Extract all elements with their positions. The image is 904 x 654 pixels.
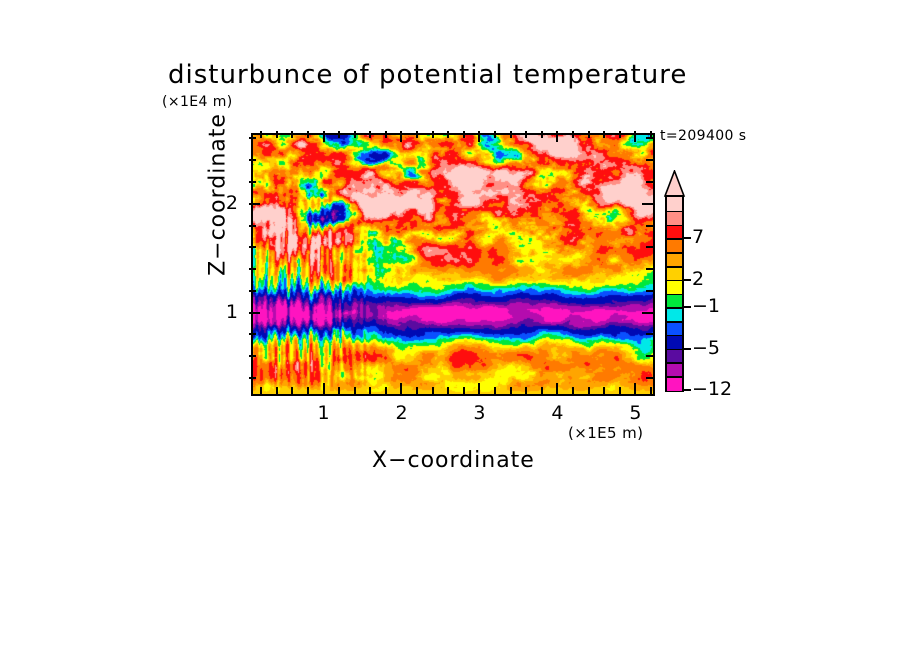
colorbar-band: [667, 238, 682, 252]
x-axis-tick-top: [400, 131, 402, 142]
x-axis-tick-bottom: [354, 387, 356, 394]
x-axis-tick-bottom: [416, 387, 418, 394]
x-axis-tick-bottom: [447, 387, 449, 394]
y-axis-tick-right: [646, 333, 653, 335]
x-axis-tick-bottom: [478, 383, 480, 394]
page-title: disturbunce of potential temperature: [168, 60, 687, 90]
x-axis-tick-top: [432, 131, 434, 138]
x-axis-tick-top: [619, 131, 621, 138]
y-axis-tick-right: [646, 159, 653, 161]
colorbar-band: [667, 349, 682, 363]
x-axis-tick-bottom: [432, 387, 434, 394]
y-axis-tick-left: [249, 312, 260, 314]
x-axis-tick-bottom: [650, 387, 652, 394]
x-axis-tick-bottom: [260, 387, 262, 394]
x-axis-tick-top: [572, 131, 574, 138]
x-axis-tick-top: [510, 131, 512, 138]
colorbar-band-divider: [667, 335, 682, 337]
colorbar-band-divider: [667, 349, 682, 351]
x-axis-title: X−coordinate: [372, 448, 535, 473]
colorbar-band-divider: [667, 238, 682, 240]
x-axis-tick-top: [369, 131, 371, 138]
y-axis-tick-right: [646, 268, 653, 270]
colorbar-band: [667, 362, 682, 376]
colorbar-band: [667, 376, 682, 390]
figure-root: disturbunce of potential temperature (×1…: [0, 0, 904, 654]
y-axis-tick-right: [646, 181, 653, 183]
x-axis-tick-bottom: [494, 387, 496, 394]
colorbar-band: [667, 211, 682, 225]
colorbar-band: [667, 280, 682, 294]
x-axis-tick-bottom: [510, 387, 512, 394]
y-tick-label: 1: [208, 301, 238, 323]
colorbar-band-divider: [667, 266, 682, 268]
colorbar-tick: [684, 279, 691, 281]
x-axis-tick-bottom: [541, 387, 543, 394]
y-axis-tick-right: [642, 203, 653, 205]
colorbar-band-divider: [667, 362, 682, 364]
time-annotation: t=209400 s: [660, 128, 746, 144]
x-axis-tick-bottom: [291, 387, 293, 394]
x-axis-tick-top: [276, 131, 278, 138]
x-axis-tick-bottom: [619, 387, 621, 394]
colorbar-tick: [684, 389, 691, 391]
x-axis-tick-bottom: [572, 387, 574, 394]
colorbar-tick: [684, 237, 691, 239]
x-axis-unit-label: (×1E5 m): [568, 424, 643, 442]
y-axis-tick-left: [249, 181, 256, 183]
y-axis-tick-right: [646, 355, 653, 357]
y-axis-tick-left: [249, 268, 256, 270]
x-axis-tick-bottom: [307, 387, 309, 394]
colorbar-band-divider: [667, 225, 682, 227]
x-tick-label: 5: [620, 402, 650, 424]
colorbar-label: −1: [692, 295, 720, 317]
x-axis-tick-top: [541, 131, 543, 138]
x-axis-tick-bottom: [603, 387, 605, 394]
x-axis-tick-top: [556, 131, 558, 142]
colorbar-band: [667, 335, 682, 349]
x-axis-tick-bottom: [323, 383, 325, 394]
x-axis-tick-top: [588, 131, 590, 138]
colorbar-label: 7: [692, 226, 704, 248]
y-axis-tick-right: [646, 290, 653, 292]
colorbar-band: [667, 197, 682, 211]
colorbar-band: [667, 307, 682, 321]
y-axis-tick-right: [646, 246, 653, 248]
y-axis-tick-right: [646, 137, 653, 139]
colorbar-band-divider: [667, 307, 682, 309]
y-axis-tick-left: [249, 377, 256, 379]
y-axis-tick-right: [646, 225, 653, 227]
y-axis-tick-left: [249, 203, 260, 205]
y-axis-tick-left: [249, 290, 256, 292]
colorbar-label: −12: [692, 378, 732, 400]
colorbar-band-divider: [667, 376, 682, 378]
x-axis-tick-bottom: [385, 387, 387, 394]
x-axis-tick-top: [354, 131, 356, 138]
x-axis-tick-bottom: [463, 387, 465, 394]
y-axis-tick-left: [249, 355, 256, 357]
y-axis-tick-left: [249, 159, 256, 161]
y-tick-label: 2: [208, 192, 238, 214]
colorbar-band: [667, 266, 682, 280]
x-axis-tick-top: [307, 131, 309, 138]
colorbar-band: [667, 294, 682, 308]
colorbar-label: −5: [692, 337, 720, 359]
colorbar-tick: [684, 306, 691, 308]
x-axis-tick-bottom: [369, 387, 371, 394]
x-tick-label: 3: [464, 402, 494, 424]
x-axis-tick-top: [634, 131, 636, 142]
x-axis-tick-top: [291, 131, 293, 138]
colorbar: [665, 195, 684, 392]
y-axis-tick-right: [646, 377, 653, 379]
x-tick-label: 1: [309, 402, 339, 424]
x-axis-tick-bottom: [525, 387, 527, 394]
x-axis-tick-bottom: [400, 383, 402, 394]
x-axis-tick-bottom: [556, 383, 558, 394]
colorbar-tick: [684, 348, 691, 350]
x-axis-tick-top: [463, 131, 465, 138]
x-axis-tick-top: [260, 131, 262, 138]
y-axis-tick-left: [249, 225, 256, 227]
y-axis-tick-left: [249, 137, 256, 139]
x-axis-tick-top: [416, 131, 418, 138]
x-axis-tick-top: [385, 131, 387, 138]
x-axis-tick-top: [603, 131, 605, 138]
x-axis-tick-top: [494, 131, 496, 138]
x-tick-label: 2: [386, 402, 416, 424]
colorbar-band: [667, 321, 682, 335]
x-axis-tick-bottom: [338, 387, 340, 394]
contour-plot-area: [251, 133, 655, 396]
x-axis-tick-top: [323, 131, 325, 142]
x-axis-tick-top: [525, 131, 527, 138]
x-axis-tick-top: [478, 131, 480, 142]
x-axis-tick-bottom: [588, 387, 590, 394]
x-tick-label: 4: [542, 402, 572, 424]
x-axis-tick-bottom: [276, 387, 278, 394]
colorbar-band: [667, 225, 682, 239]
y-axis-tick-left: [249, 246, 256, 248]
y-axis-tick-left: [249, 333, 256, 335]
colorbar-band-divider: [667, 321, 682, 323]
colorbar-arrow-icon: [663, 170, 686, 197]
colorbar-band-divider: [667, 294, 682, 296]
contour-field-canvas: [253, 135, 653, 394]
colorbar-band-divider: [667, 211, 682, 213]
colorbar-band: [667, 252, 682, 266]
colorbar-band-divider: [667, 280, 682, 282]
x-axis-tick-top: [447, 131, 449, 138]
x-axis-tick-bottom: [634, 383, 636, 394]
colorbar-label: 2: [692, 268, 704, 290]
y-axis-tick-right: [642, 312, 653, 314]
colorbar-band-divider: [667, 252, 682, 254]
x-axis-tick-top: [338, 131, 340, 138]
